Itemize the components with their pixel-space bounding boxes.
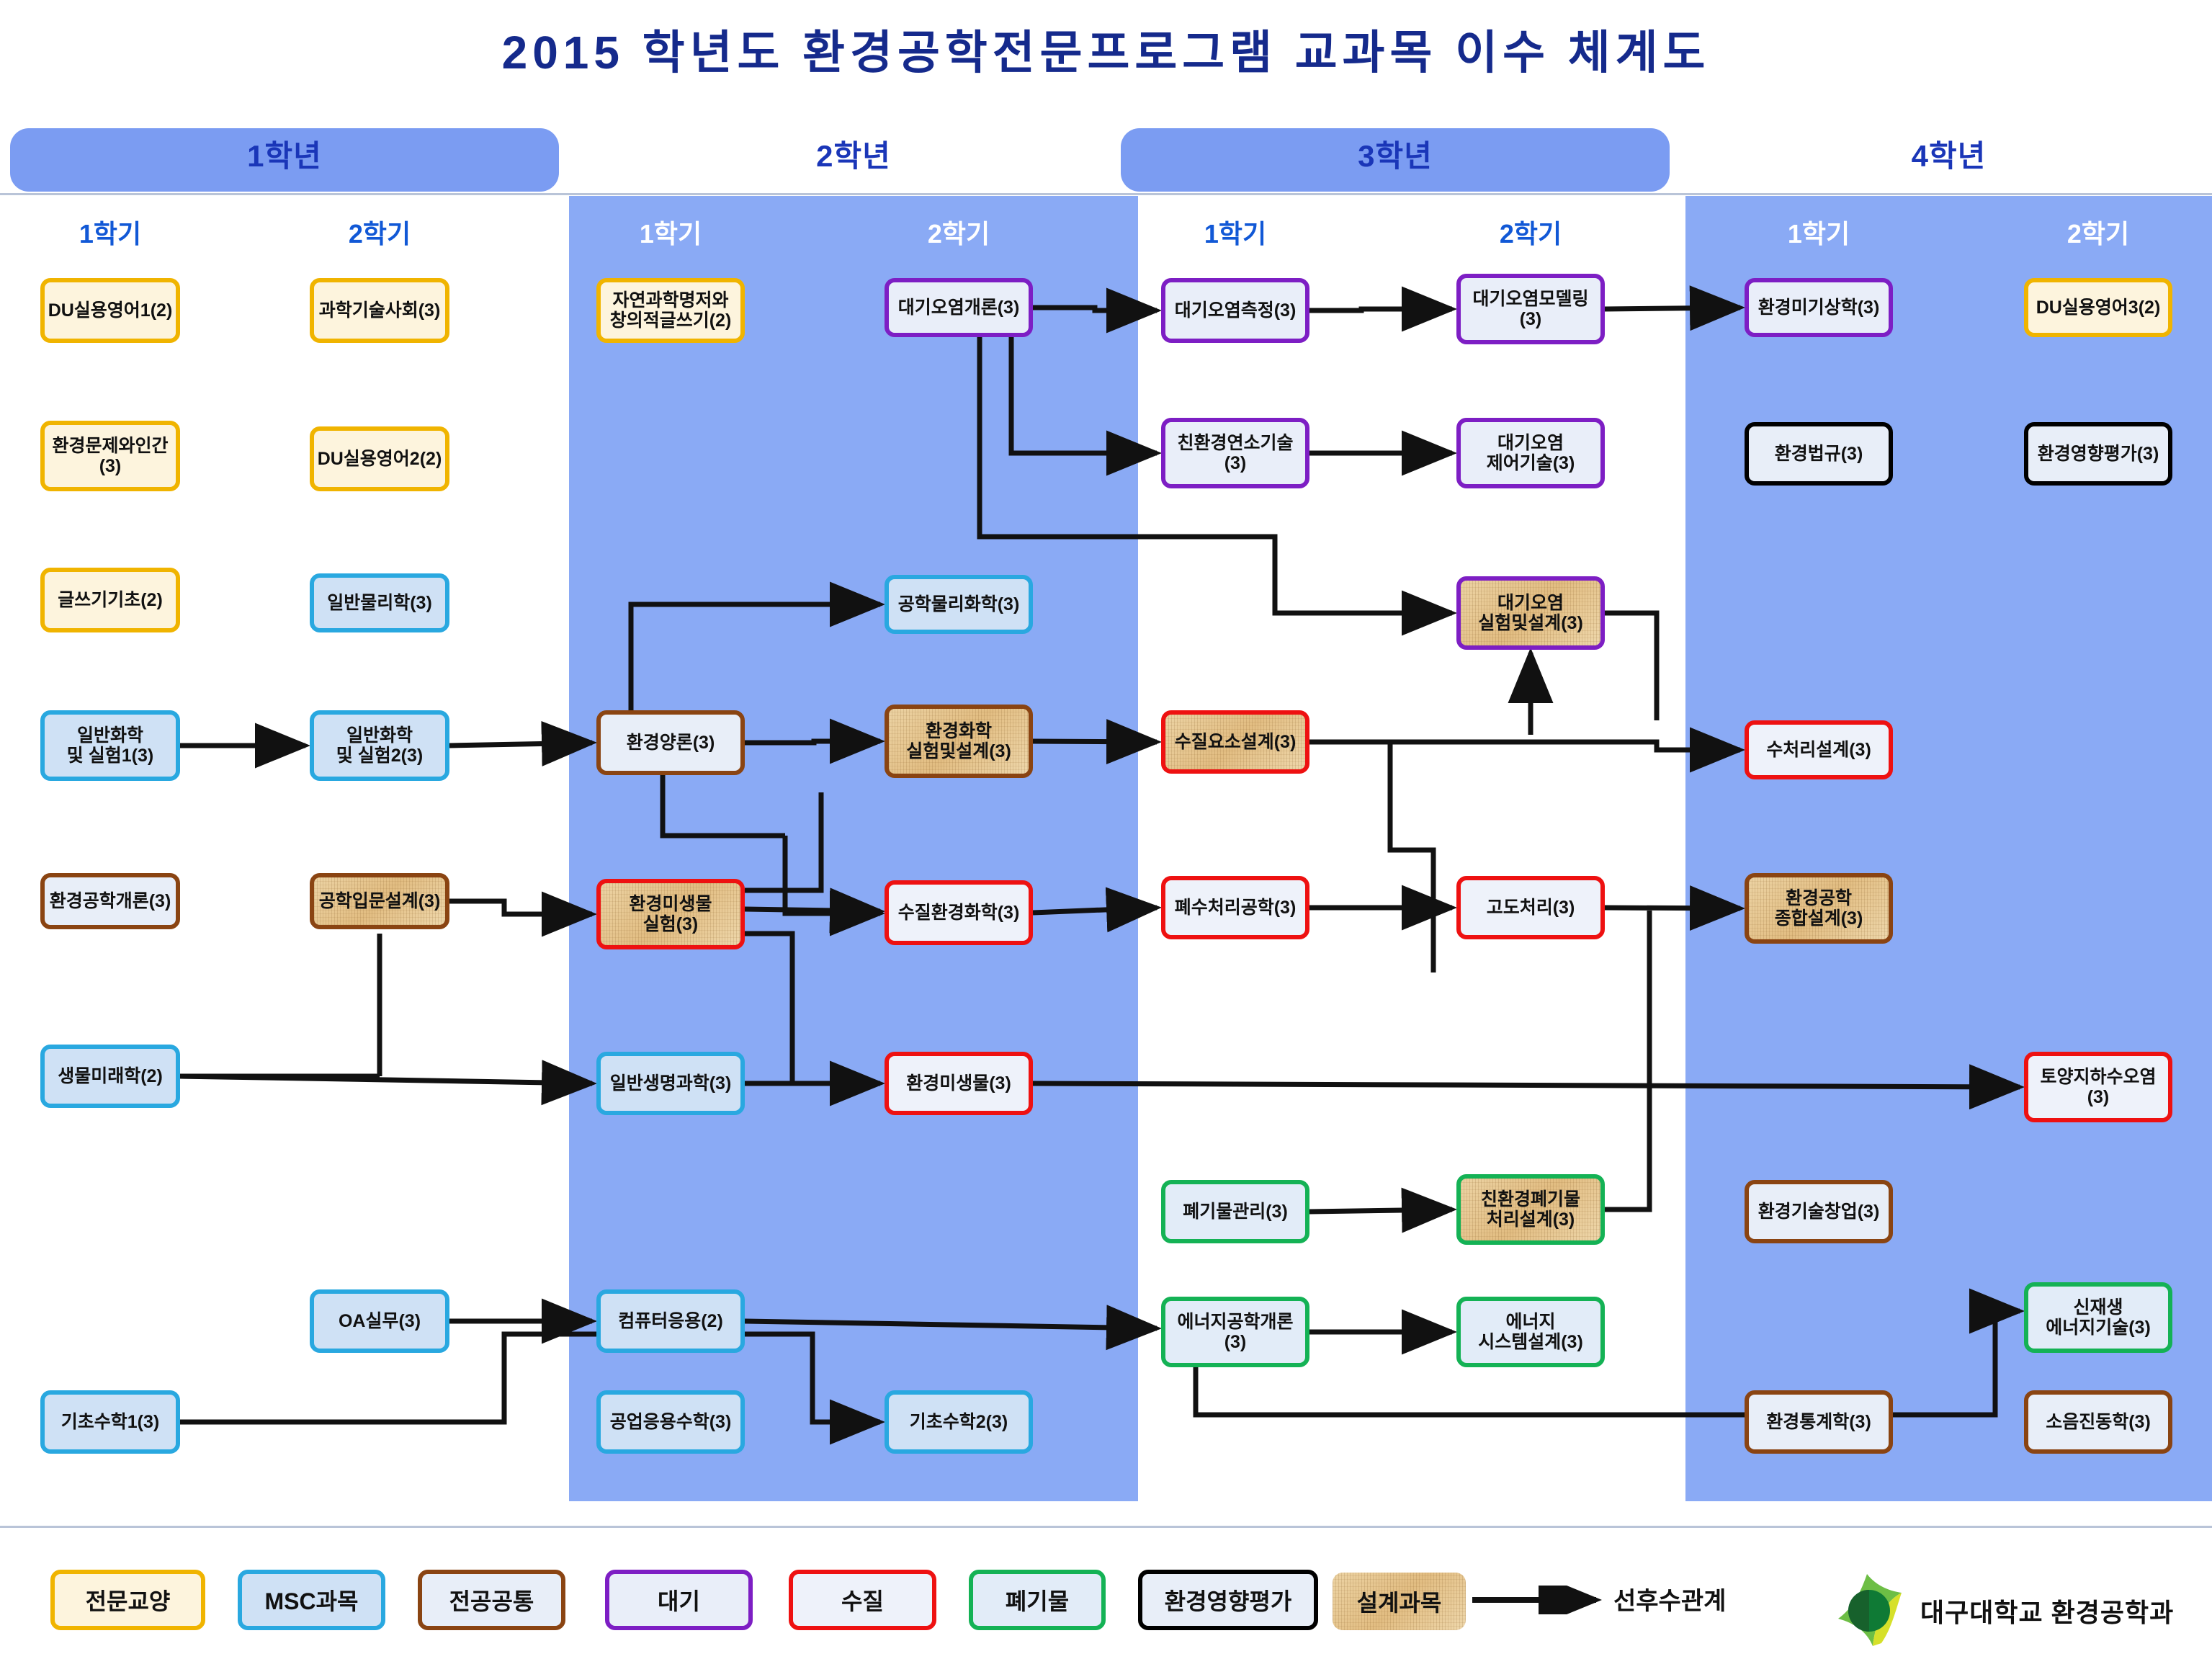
course-label: 환경미생물(3) bbox=[906, 1073, 1011, 1094]
course-label: 수처리설계(3) bbox=[1766, 740, 1871, 760]
daegu-university-logo-icon bbox=[1830, 1571, 1909, 1650]
legend-item-label: 폐기물 bbox=[1006, 1583, 1069, 1616]
legend-item-2[interactable]: 전공공통 bbox=[418, 1570, 565, 1630]
course-box-natsci[interactable]: 자연과학명저와 창의적글쓰기(2) bbox=[596, 278, 745, 343]
course-box-envchemlab[interactable]: 환경화학 실험및설계(3) bbox=[885, 705, 1033, 778]
course-box-ecowastedes[interactable]: 친환경폐기물 처리설계(3) bbox=[1456, 1174, 1605, 1245]
course-box-soilgw[interactable]: 토양지하수오염 (3) bbox=[2024, 1052, 2172, 1122]
course-label: 친환경폐기물 처리설계(3) bbox=[1481, 1189, 1580, 1230]
course-label: 일반화학 및 실험2(3) bbox=[336, 725, 423, 766]
semester-label-y3s2: 2학기 bbox=[1456, 213, 1605, 251]
course-box-ecocombust[interactable]: 친환경연소기술 (3) bbox=[1161, 418, 1309, 488]
legend-item-label: 수질 bbox=[841, 1583, 884, 1616]
course-box-indmath[interactable]: 공업응용수학(3) bbox=[596, 1390, 745, 1454]
course-box-airintro[interactable]: 대기오염개론(3) bbox=[885, 278, 1033, 337]
year-label-3: 3학년 bbox=[1121, 141, 1670, 171]
course-label: 환경공학 종합설계(3) bbox=[1775, 888, 1863, 929]
university-logo-block: 대구대학교 환경공학과 bbox=[1830, 1571, 2174, 1650]
curriculum-flowchart: 2015 학년도 환경공학전문프로그램 교과목 이수 체계도 1학년 2학년 3… bbox=[0, 0, 2212, 1659]
legend-arrow-icon bbox=[1469, 1586, 1606, 1614]
course-label: 수질환경화학(3) bbox=[898, 903, 1020, 923]
legend-item-5[interactable]: 폐기물 bbox=[969, 1570, 1106, 1630]
year-label-1: 1학년 bbox=[10, 141, 559, 171]
course-label: 일반화학 및 실험1(3) bbox=[67, 725, 153, 766]
course-box-envlaw[interactable]: 환경법규(3) bbox=[1745, 422, 1893, 486]
course-label: 환경양론(3) bbox=[627, 733, 715, 753]
course-box-basicmath1[interactable]: 기초수학1(3) bbox=[40, 1390, 180, 1454]
course-label: 공학입문설계(3) bbox=[319, 891, 441, 911]
course-box-wastewater[interactable]: 폐수처리공학(3) bbox=[1161, 876, 1309, 939]
course-box-engphyschem[interactable]: 공학물리화학(3) bbox=[885, 575, 1033, 634]
course-box-biofuture[interactable]: 생물미래학(2) bbox=[40, 1045, 180, 1108]
course-box-envmicro[interactable]: 환경미생물(3) bbox=[885, 1052, 1033, 1115]
legend-item-1[interactable]: MSC과목 bbox=[238, 1570, 385, 1630]
legend-item-label: 전공공통 bbox=[449, 1583, 534, 1616]
course-label: 수질요소설계(3) bbox=[1175, 732, 1297, 752]
semester-label-y3s1: 1학기 bbox=[1161, 213, 1309, 251]
course-box-airmodel[interactable]: 대기오염모델링 (3) bbox=[1456, 274, 1605, 344]
course-box-envhuman[interactable]: 환경문제와인간 (3) bbox=[40, 421, 180, 491]
course-box-energysys[interactable]: 에너지 시스템설계(3) bbox=[1456, 1297, 1605, 1367]
semester-label-y2s1: 1학기 bbox=[596, 213, 745, 251]
course-label: 환경통계학(3) bbox=[1766, 1412, 1871, 1432]
course-label: 컴퓨터응용(2) bbox=[618, 1311, 723, 1331]
course-box-basicmath2[interactable]: 기초수학2(3) bbox=[885, 1390, 1033, 1454]
legend-arrow-label: 선후수관계 bbox=[1613, 1581, 1726, 1616]
course-label: 토양지하수오염 (3) bbox=[2040, 1067, 2156, 1107]
course-label: 폐수처리공학(3) bbox=[1175, 898, 1297, 918]
course-label: 대기오염 제어기술(3) bbox=[1487, 433, 1575, 473]
course-label: 생물미래학(2) bbox=[58, 1066, 163, 1086]
course-box-genchem1[interactable]: 일반화학 및 실험1(3) bbox=[40, 710, 180, 781]
course-label: 일반생명과학(3) bbox=[610, 1073, 732, 1094]
course-box-du2[interactable]: DU실용영어2(2) bbox=[310, 426, 449, 491]
course-box-envtheory[interactable]: 환경양론(3) bbox=[596, 710, 745, 775]
course-box-envintro[interactable]: 환경공학개론(3) bbox=[40, 873, 180, 929]
course-box-wastemgmt[interactable]: 폐기물관리(3) bbox=[1161, 1180, 1309, 1243]
course-box-scitechsoc[interactable]: 과학기술사회(3) bbox=[310, 278, 449, 343]
course-box-genchem2[interactable]: 일반화학 및 실험2(3) bbox=[310, 710, 449, 781]
course-label: 친환경연소기술 (3) bbox=[1177, 433, 1293, 473]
course-box-noise[interactable]: 소음진동학(3) bbox=[2024, 1390, 2172, 1454]
course-box-renewable[interactable]: 신재생 에너지기술(3) bbox=[2024, 1282, 2172, 1353]
course-label: 에너지공학개론 (3) bbox=[1177, 1312, 1293, 1352]
course-label: DU실용영어2(2) bbox=[318, 449, 442, 469]
course-label: 폐기물관리(3) bbox=[1183, 1202, 1288, 1222]
course-label: 고도처리(3) bbox=[1487, 898, 1575, 918]
legend-item-4[interactable]: 수질 bbox=[789, 1570, 936, 1630]
page-title: 2015 학년도 환경공학전문프로그램 교과목 이수 체계도 bbox=[0, 16, 2212, 82]
legend-item-label: MSC과목 bbox=[265, 1583, 359, 1616]
year-label-2: 2학년 bbox=[569, 141, 1138, 171]
legend-item-label: 전문교양 bbox=[86, 1583, 171, 1616]
course-box-micrometeo[interactable]: 환경미기상학(3) bbox=[1745, 278, 1893, 337]
legend-item-7[interactable]: 설계과목 bbox=[1333, 1573, 1466, 1630]
legend-item-6[interactable]: 환경영향평가 bbox=[1138, 1570, 1318, 1630]
semester-label-y1s2: 2학기 bbox=[310, 213, 449, 251]
university-name: 대구대학교 환경공학과 bbox=[1920, 1592, 2174, 1629]
course-box-airmeas[interactable]: 대기오염측정(3) bbox=[1161, 278, 1309, 343]
course-label: 환경법규(3) bbox=[1775, 444, 1863, 464]
course-box-capstone[interactable]: 환경공학 종합설계(3) bbox=[1745, 873, 1893, 944]
course-label: 환경미생물 실험(3) bbox=[629, 894, 712, 934]
course-label: 대기오염개론(3) bbox=[898, 298, 1020, 318]
course-box-envstat[interactable]: 환경통계학(3) bbox=[1745, 1390, 1893, 1454]
legend-item-0[interactable]: 전문교양 bbox=[50, 1570, 205, 1630]
course-label: 대기오염 실험및설계(3) bbox=[1478, 593, 1583, 633]
course-label: 과학기술사회(3) bbox=[319, 300, 441, 321]
course-label: DU실용영어1(2) bbox=[48, 300, 173, 321]
course-label: 공학물리화학(3) bbox=[898, 594, 1020, 614]
course-label: 환경공학개론(3) bbox=[50, 891, 171, 911]
course-label: 에너지 시스템설계(3) bbox=[1478, 1312, 1583, 1352]
semester-label-y4s2: 2학기 bbox=[2024, 213, 2172, 251]
course-label: 대기오염모델링 (3) bbox=[1472, 289, 1588, 329]
course-box-genphys[interactable]: 일반물리학(3) bbox=[310, 573, 449, 632]
course-label: OA실무(3) bbox=[339, 1311, 421, 1331]
course-box-writing[interactable]: 글쓰기기초(2) bbox=[40, 568, 180, 632]
course-box-advtreat[interactable]: 고도처리(3) bbox=[1456, 876, 1605, 939]
course-label: 신재생 에너지기술(3) bbox=[2046, 1297, 2151, 1338]
course-label: 글쓰기기초(2) bbox=[58, 590, 163, 610]
course-label: 환경영향평가(3) bbox=[2038, 444, 2159, 464]
course-label: 환경기술창업(3) bbox=[1758, 1202, 1880, 1222]
course-box-envmicrolab[interactable]: 환경미생물 실험(3) bbox=[596, 879, 745, 949]
course-box-aircontrol[interactable]: 대기오염 제어기술(3) bbox=[1456, 418, 1605, 488]
year-label-4: 4학년 bbox=[1685, 141, 2212, 171]
legend-item-label: 대기 bbox=[658, 1583, 700, 1616]
legend-item-3[interactable]: 대기 bbox=[605, 1570, 753, 1630]
course-box-watermain[interactable]: 수질요소설계(3) bbox=[1161, 710, 1309, 774]
course-box-oa[interactable]: OA실무(3) bbox=[310, 1289, 449, 1353]
course-label: 환경미기상학(3) bbox=[1758, 298, 1880, 318]
course-label: 일반물리학(3) bbox=[327, 593, 432, 613]
legend-bar: 전문교양MSC과목전공공통대기수질폐기물환경영향평가설계과목 선후수관계 대구대… bbox=[0, 1526, 2212, 1659]
header-divider bbox=[0, 193, 2212, 195]
course-box-genbio[interactable]: 일반생명과학(3) bbox=[596, 1052, 745, 1115]
course-box-airlabdes[interactable]: 대기오염 실험및설계(3) bbox=[1456, 576, 1605, 650]
course-label: 환경화학 실험및설계(3) bbox=[906, 721, 1011, 761]
course-box-du3[interactable]: DU실용영어3(2) bbox=[2024, 278, 2172, 337]
course-label: 환경문제와인간 (3) bbox=[52, 436, 168, 476]
course-box-eia[interactable]: 환경영향평가(3) bbox=[2024, 422, 2172, 486]
course-box-energyintro[interactable]: 에너지공학개론 (3) bbox=[1161, 1297, 1309, 1367]
semester-label-y2s2: 2학기 bbox=[885, 213, 1033, 251]
semester-label-y4s1: 1학기 bbox=[1745, 213, 1893, 251]
course-box-waterdesign[interactable]: 수처리설계(3) bbox=[1745, 720, 1893, 779]
course-box-computer[interactable]: 컴퓨터응용(2) bbox=[596, 1289, 745, 1353]
legend-item-label: 설계과목 bbox=[1357, 1585, 1442, 1618]
course-box-waterchem[interactable]: 수질환경화학(3) bbox=[885, 880, 1033, 945]
semester-label-y1s1: 1학기 bbox=[40, 213, 180, 251]
course-label: 소음진동학(3) bbox=[2046, 1412, 2151, 1432]
course-box-engintro[interactable]: 공학입문설계(3) bbox=[310, 873, 449, 929]
course-label: 자연과학명저와 창의적글쓰기(2) bbox=[610, 290, 732, 331]
course-label: 대기오염측정(3) bbox=[1175, 300, 1297, 321]
course-label: 공업응용수학(3) bbox=[610, 1412, 732, 1432]
course-label: 기초수학2(3) bbox=[910, 1412, 1008, 1432]
course-box-du1[interactable]: DU실용영어1(2) bbox=[40, 278, 180, 343]
course-box-envstartup[interactable]: 환경기술창업(3) bbox=[1745, 1180, 1893, 1243]
course-label: DU실용영어3(2) bbox=[2036, 298, 2161, 318]
course-label: 기초수학1(3) bbox=[61, 1412, 159, 1432]
legend-item-label: 환경영향평가 bbox=[1165, 1583, 1292, 1616]
